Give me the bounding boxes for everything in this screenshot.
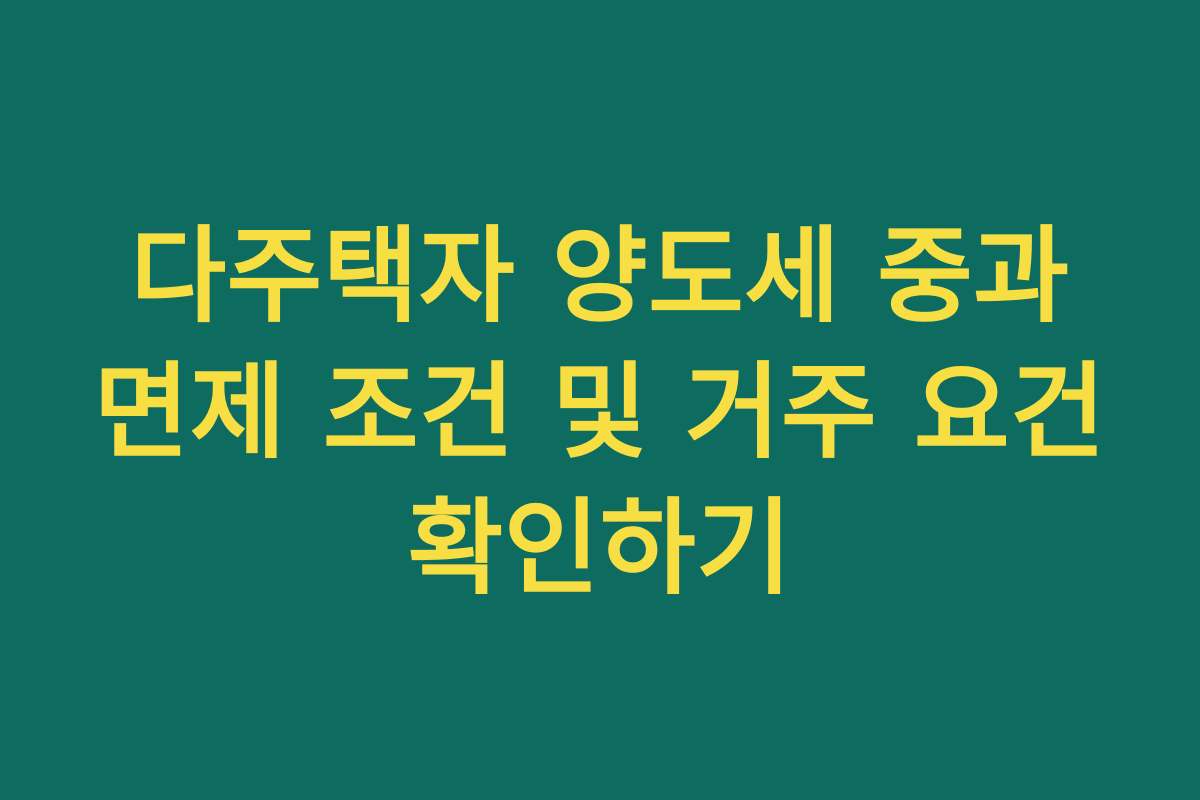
title-block: 다주택자 양도세 중과 면제 조건 및 거주 요건 확인하기 bbox=[70, 208, 1130, 616]
title-line-1: 다주택자 양도세 중과 bbox=[70, 208, 1130, 344]
thumbnail-canvas: 다주택자 양도세 중과 면제 조건 및 거주 요건 확인하기 bbox=[0, 0, 1200, 800]
title-line-2: 면제 조건 및 거주 요건 bbox=[70, 344, 1130, 480]
title-line-3: 확인하기 bbox=[70, 480, 1130, 616]
